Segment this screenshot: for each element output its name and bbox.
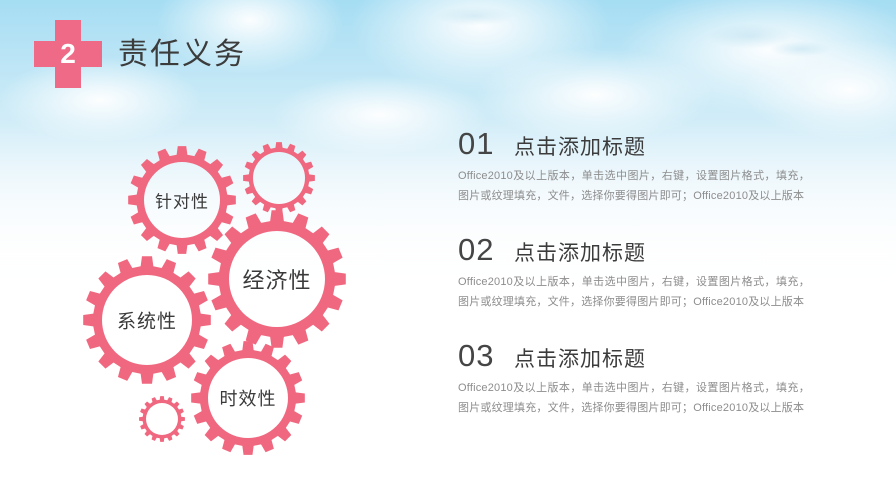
content-block-number: 02 (458, 234, 514, 265)
content-block-number: 03 (458, 340, 514, 371)
content-block-header: 02 点击添加标题 (458, 234, 858, 265)
slide-canvas: 2 责任义务 针对性经济性系统性时效性 01 点击添加标题 Office2010… (0, 0, 896, 504)
content-block-title[interactable]: 点击添加标题 (514, 243, 646, 264)
content-block-title[interactable]: 点击添加标题 (514, 137, 646, 158)
gear-svg (60, 118, 440, 478)
gear-jingjixing (208, 210, 346, 348)
content-block-number: 01 (458, 128, 514, 159)
gear-small-bottom (139, 396, 185, 442)
gear-small-top (243, 142, 315, 214)
content-block-header: 03 点击添加标题 (458, 340, 858, 371)
page-title: 责任义务 (118, 36, 246, 74)
section-number-label: 2 (34, 20, 102, 88)
gear-diagram: 针对性经济性系统性时效性 (60, 118, 440, 478)
content-list: 01 点击添加标题 Office2010及以上版本，单击选中图片，右键，设置图片… (458, 128, 858, 418)
content-block: 02 点击添加标题 Office2010及以上版本，单击选中图片，右键，设置图片… (458, 234, 858, 312)
content-block: 01 点击添加标题 Office2010及以上版本，单击选中图片，右键，设置图片… (458, 128, 858, 206)
gear-shixiaoxing (191, 341, 305, 455)
content-block-body: Office2010及以上版本，单击选中图片，右键，设置图片格式，填充，图片或纹… (458, 378, 810, 418)
gear-zhenduixing (128, 146, 236, 254)
content-block-header: 01 点击添加标题 (458, 128, 858, 159)
content-block: 03 点击添加标题 Office2010及以上版本，单击选中图片，右键，设置图片… (458, 340, 858, 418)
content-block-body: Office2010及以上版本，单击选中图片，右键，设置图片格式，填充，图片或纹… (458, 272, 810, 312)
slide-header: 2 责任义务 (0, 0, 896, 110)
content-block-body: Office2010及以上版本，单击选中图片，右键，设置图片格式，填充，图片或纹… (458, 166, 810, 206)
gear-xitongxing (83, 256, 211, 384)
content-block-title[interactable]: 点击添加标题 (514, 349, 646, 370)
section-number-badge: 2 (34, 20, 102, 88)
